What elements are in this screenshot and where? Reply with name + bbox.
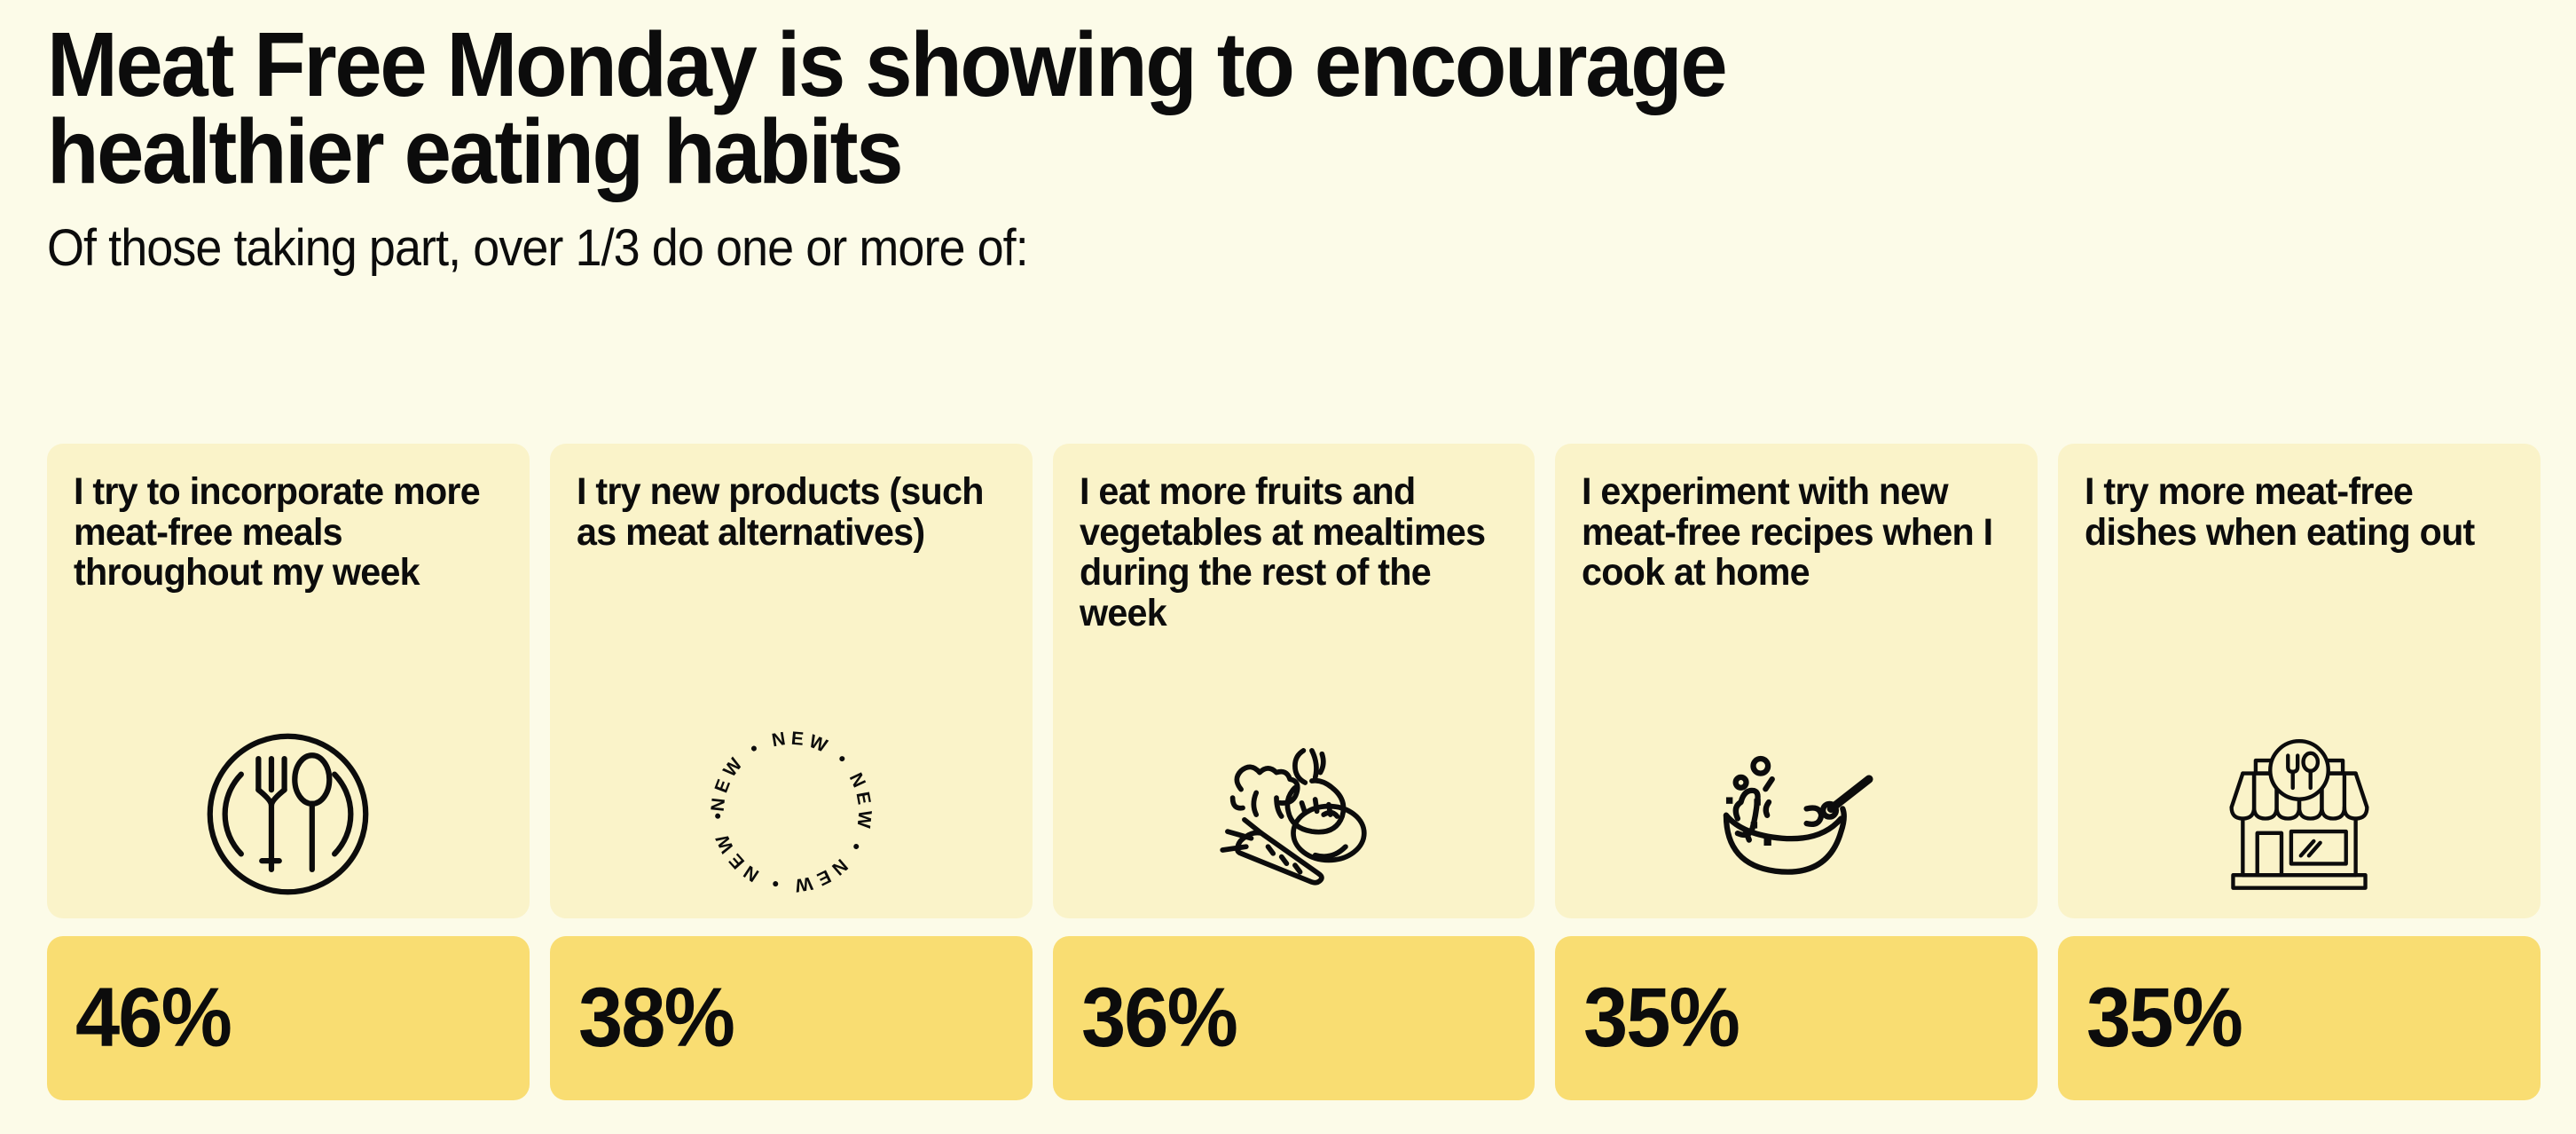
- percent-bar: 35%: [1555, 936, 2038, 1100]
- percent-value: 36%: [1081, 976, 1237, 1060]
- percent-value: 35%: [2086, 976, 2242, 1060]
- wok-pan-icon: [1555, 714, 2038, 901]
- stat-card-grid: I try to incorporate more meat-free meal…: [47, 444, 2541, 1100]
- percent-value: 38%: [578, 976, 734, 1060]
- stat-column: I try more meat-free dishes when eating …: [2058, 444, 2541, 1100]
- stat-card: I experiment with new meat-free recipes …: [1555, 444, 2038, 918]
- new-circular-badge-icon: NEW • NEW • NEW • NEW • NEW •: [550, 714, 1033, 901]
- header: Meat Free Monday is showing to encourage…: [47, 0, 2541, 276]
- page-title: Meat Free Monday is showing to encourage…: [47, 21, 1862, 195]
- stat-card-label: I try more meat-free dishes when eating …: [2085, 472, 2496, 553]
- stat-card-label: I try new products (such as meat alterna…: [577, 472, 988, 553]
- restaurant-storefront-icon: [2058, 714, 2541, 901]
- stat-card: I try new products (such as meat alterna…: [550, 444, 1033, 918]
- stat-card: I try to incorporate more meat-free meal…: [47, 444, 530, 918]
- vegetables-icon: [1053, 714, 1535, 901]
- percent-bar: 35%: [2058, 936, 2541, 1100]
- percent-value: 35%: [1583, 976, 1739, 1060]
- stat-card-label: I try to incorporate more meat-free meal…: [74, 472, 485, 594]
- plate-cutlery-icon: [47, 714, 530, 901]
- stat-column: I try to incorporate more meat-free meal…: [47, 444, 530, 1100]
- infographic-page: Meat Free Monday is showing to encourage…: [0, 0, 2576, 1134]
- stat-column: I eat more fruits and vegetables at meal…: [1053, 444, 1535, 1100]
- stat-column: I experiment with new meat-free recipes …: [1555, 444, 2038, 1100]
- stat-card-label: I experiment with new meat-free recipes …: [1582, 472, 1993, 594]
- percent-bar: 38%: [550, 936, 1033, 1100]
- stat-column: I try new products (such as meat alterna…: [550, 444, 1033, 1100]
- percent-value: 46%: [75, 976, 231, 1060]
- page-subtitle: Of those taking part, over 1/3 do one or…: [47, 222, 2366, 276]
- stat-card-label: I eat more fruits and vegetables at meal…: [1080, 472, 1491, 634]
- stat-card: I eat more fruits and vegetables at meal…: [1053, 444, 1535, 918]
- svg-text:NEW • NEW • NEW • NEW • NEW •: NEW • NEW • NEW • NEW • NEW •: [707, 728, 875, 896]
- percent-bar: 36%: [1053, 936, 1535, 1100]
- stat-card: I try more meat-free dishes when eating …: [2058, 444, 2541, 918]
- percent-bar: 46%: [47, 936, 530, 1100]
